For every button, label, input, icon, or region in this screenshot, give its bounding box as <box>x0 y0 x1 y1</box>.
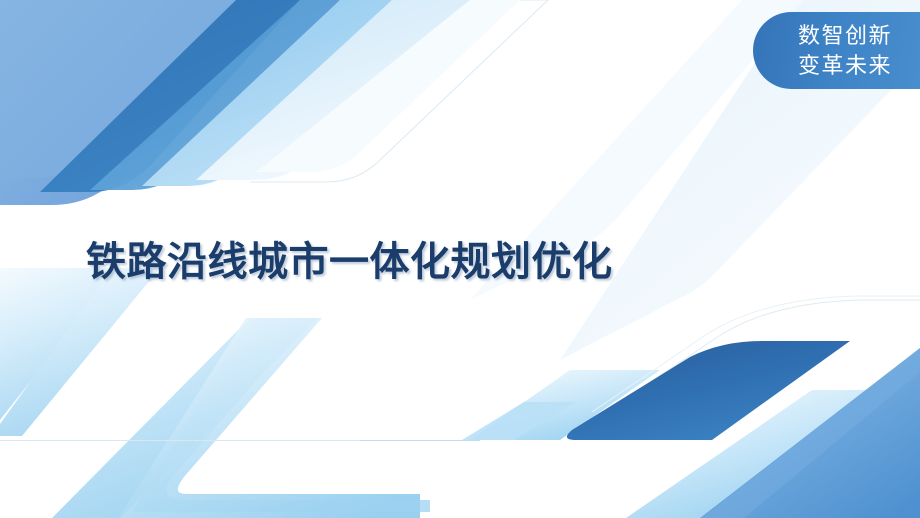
corner-tag-line-2: 变革未来 <box>798 51 892 81</box>
corner-tag-line-1: 数智创新 <box>798 21 892 51</box>
slide-title: 铁路沿线城市一体化规划优化 <box>86 236 613 288</box>
corner-tag-badge: 数智创新 变革未来 <box>753 12 920 89</box>
slide-canvas: 数智创新 变革未来 铁路沿线城市一体化规划优化 <box>0 0 920 518</box>
